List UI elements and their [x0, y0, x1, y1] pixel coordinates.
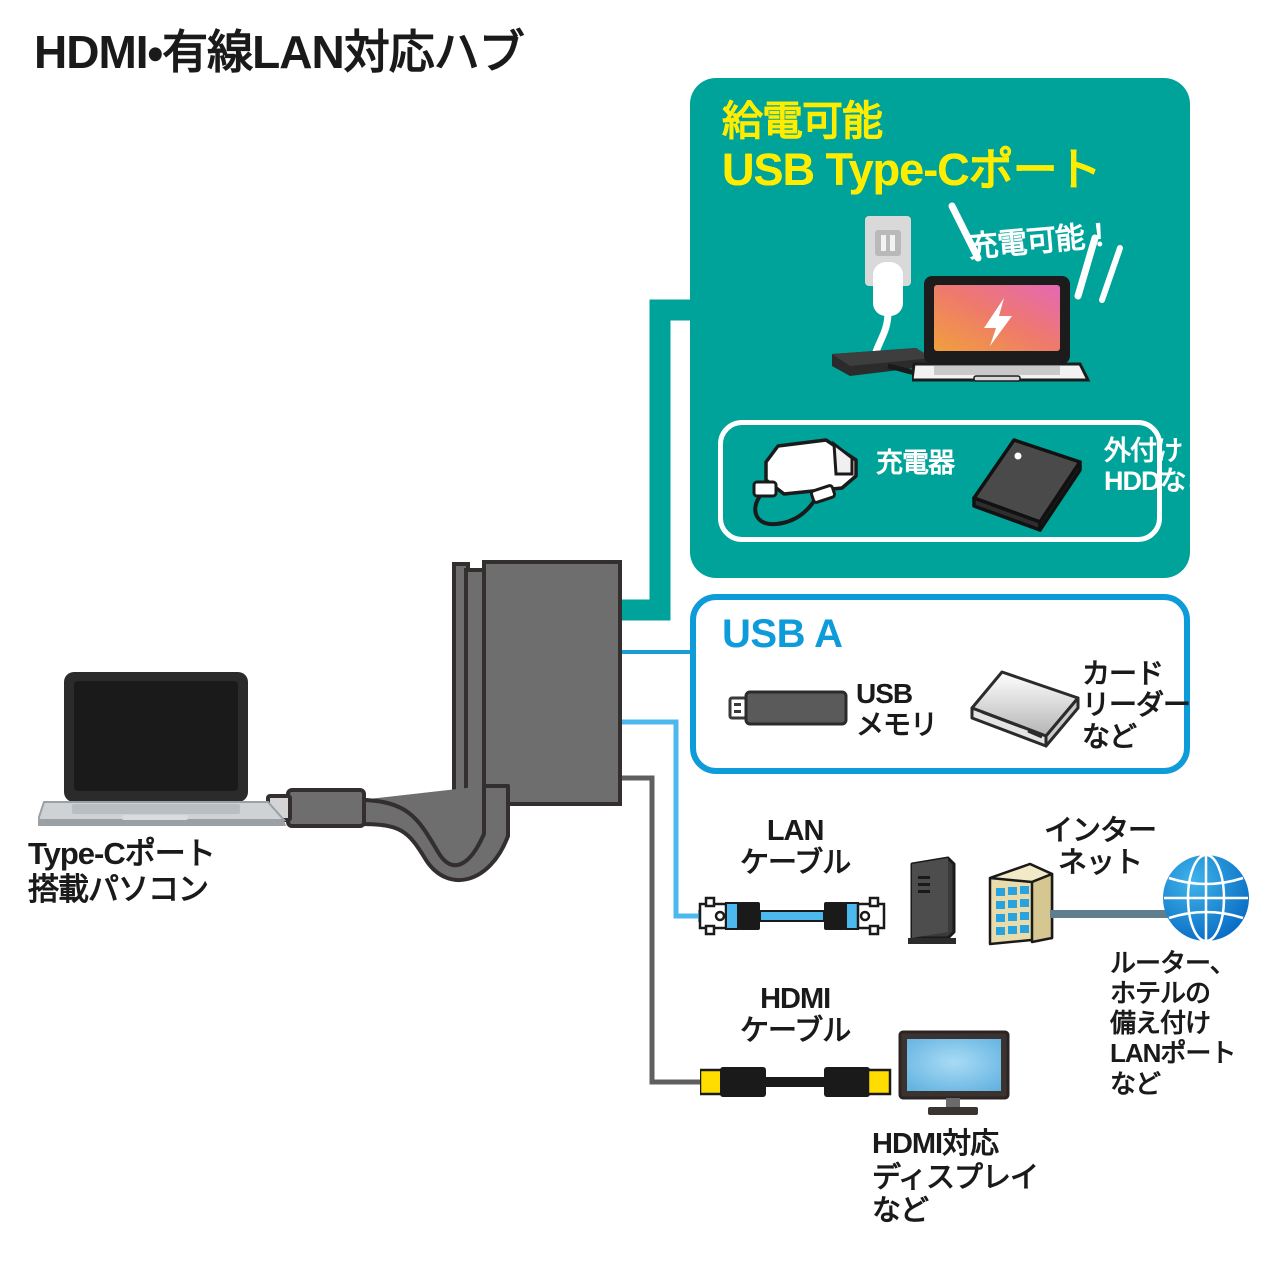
usb-type-c-cable-icon: [260, 766, 560, 890]
pd-heading-line1: 給電可能: [722, 100, 1101, 143]
usb-memory-line1: USB: [856, 678, 912, 709]
router-note-line3: 備え付け: [1110, 1008, 1210, 1038]
hdmi-cable-icon: [700, 1064, 892, 1102]
card-reader-icon: [968, 664, 1086, 756]
internet-label: インター ネット: [1044, 815, 1156, 880]
internet-line1: インター: [1044, 815, 1156, 847]
lan-cable-line2: ケーブル: [740, 847, 850, 879]
pc-label-line2: 搭載パソコン: [28, 872, 208, 907]
router-note-line5: など: [1110, 1069, 1160, 1099]
display-note-line2: ディスプレイ: [872, 1162, 1038, 1194]
lan-cable-icon: [698, 896, 898, 938]
usb-flash-drive-icon: [728, 686, 858, 732]
display-note-line3: など: [872, 1195, 928, 1227]
hdd-label: 外付け HDDなど: [1104, 437, 1212, 496]
hdmi-cable-label: HDMI ケーブル: [740, 983, 850, 1048]
display-note-line1: HDMI対応: [872, 1128, 998, 1160]
lan-cable-line1: LAN: [767, 815, 824, 847]
card-reader-line3: など: [1082, 721, 1136, 752]
card-reader-label: カード リーダー など: [1082, 658, 1190, 752]
card-reader-line2: リーダー: [1082, 689, 1190, 720]
usb-memory-line2: メモリ: [856, 709, 937, 740]
pd-panel-heading: 給電可能 USB Type-Cポート: [722, 100, 1101, 194]
globe-icon: [1160, 852, 1252, 944]
hdmi-cable-line1: HDMI: [760, 983, 830, 1015]
hdmi-display-icon: [898, 1030, 1010, 1116]
display-note: HDMI対応 ディスプレイ など: [872, 1128, 1038, 1229]
internet-link-line: [1050, 906, 1170, 922]
usb-a-heading: USB A: [722, 612, 842, 657]
router-note: ルーター、 ホテルの 備え付け LANポート など: [1110, 948, 1235, 1099]
hdd-label-line2: HDDなど: [1104, 466, 1212, 496]
diagram-canvas: HDMI・有線LAN対応ハブ 給電可能 USB Type-Cポート 充電可能！: [0, 0, 1280, 1280]
wire-hdmi-gray: [620, 778, 700, 1082]
router-note-line2: ホテルの: [1110, 978, 1210, 1008]
usb-type-c-plug-icon: [288, 790, 364, 826]
external-hdd-icon: [968, 436, 1088, 532]
charging-laptop-icon: [912, 276, 1092, 388]
hdmi-cable-line2: ケーブル: [740, 1015, 850, 1047]
charger-label: 充電器: [876, 449, 954, 479]
card-reader-line1: カード: [1082, 658, 1163, 689]
ac-charger-icon: [748, 432, 878, 532]
router-note-line1: ルーター、: [1110, 948, 1235, 978]
internet-line2: ネット: [1058, 847, 1142, 879]
laptop-icon: [38, 672, 288, 828]
pc-label-line1: Type-Cポート: [28, 836, 215, 871]
pc-label: Type-Cポート 搭載パソコン: [28, 836, 215, 908]
hdd-label-line1: 外付け: [1104, 436, 1182, 466]
page-title: HDMI・有線LAN対応ハブ: [34, 16, 524, 82]
router-icon: [902, 856, 962, 948]
pd-heading-line2: USB Type-Cポート: [722, 146, 1101, 194]
router-note-line4: LANポート: [1110, 1038, 1235, 1068]
wire-lan-lightblue: [620, 722, 700, 916]
lan-cable-label: LAN ケーブル: [740, 815, 850, 880]
usb-memory-label: USB メモリ: [856, 678, 937, 741]
